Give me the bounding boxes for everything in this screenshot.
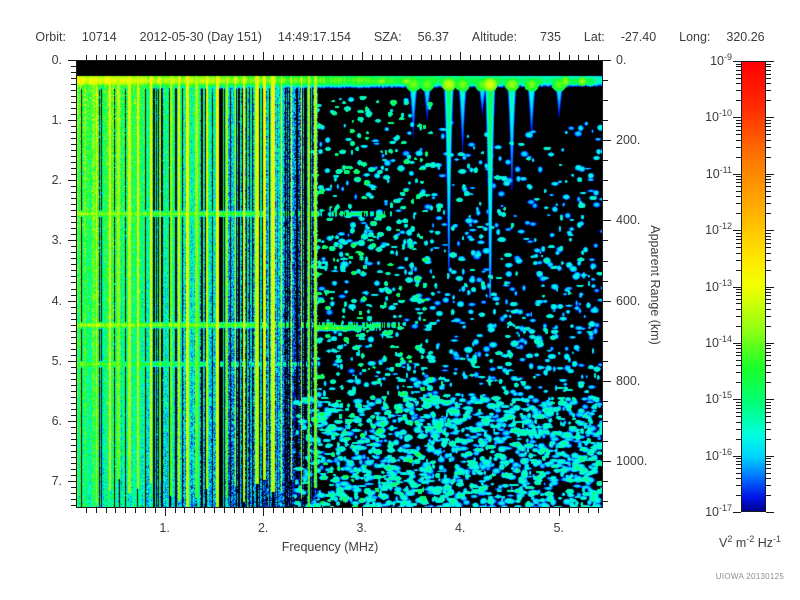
x-axis-title: Frequency (MHz) bbox=[0, 540, 660, 554]
observation-time: 14:49:17.154 bbox=[278, 30, 351, 44]
colorbar: 10-910-1010-1110-1210-1310-1410-1510-161… bbox=[741, 61, 766, 512]
altitude-label: Altitude: bbox=[472, 30, 517, 44]
y2-axis-title: Apparent Range (km) bbox=[648, 225, 662, 345]
colorbar-tick-label: 10-10 bbox=[705, 110, 732, 124]
plot-frame bbox=[76, 60, 603, 508]
observation-date: 2012-05-30 (Day 151) bbox=[140, 30, 262, 44]
long-label: Long: bbox=[679, 30, 710, 44]
colorbar-units-label: V2 m-2 Hz-1 bbox=[698, 536, 800, 550]
ionogram-plot: 0.1.2.3.4.5.6.7. 0.200.400.600.800.1000.… bbox=[76, 60, 603, 508]
colorbar-tick-label: 10-15 bbox=[705, 392, 732, 406]
colorbar-tick-label: 10-17 bbox=[705, 505, 732, 519]
orbit-label: Orbit: bbox=[35, 30, 66, 44]
lat-value: -27.40 bbox=[621, 30, 656, 44]
colorbar-tick-label: 10-12 bbox=[705, 223, 732, 237]
sza-label: SZA: bbox=[374, 30, 402, 44]
colorbar-tick-label: 10-14 bbox=[705, 336, 732, 350]
altitude-value: 735 bbox=[540, 30, 561, 44]
colorbar-tick-label: 10-9 bbox=[710, 54, 732, 68]
colorbar-tick-label: 10-13 bbox=[705, 280, 732, 294]
orbit-value: 10714 bbox=[82, 30, 117, 44]
colorbar-gradient bbox=[742, 62, 765, 511]
long-value: 320.26 bbox=[726, 30, 764, 44]
colorbar-tick-label: 10-16 bbox=[705, 449, 732, 463]
lat-label: Lat: bbox=[584, 30, 605, 44]
header-info-bar: Orbit: 10714 2012-05-30 (Day 151) 14:49:… bbox=[0, 30, 800, 44]
credit-footer: UIOWA 20130125 bbox=[698, 572, 800, 581]
sza-value: 56.37 bbox=[418, 30, 449, 44]
colorbar-tick-label: 10-11 bbox=[706, 167, 732, 181]
colorbar-gradient-frame bbox=[741, 61, 766, 512]
